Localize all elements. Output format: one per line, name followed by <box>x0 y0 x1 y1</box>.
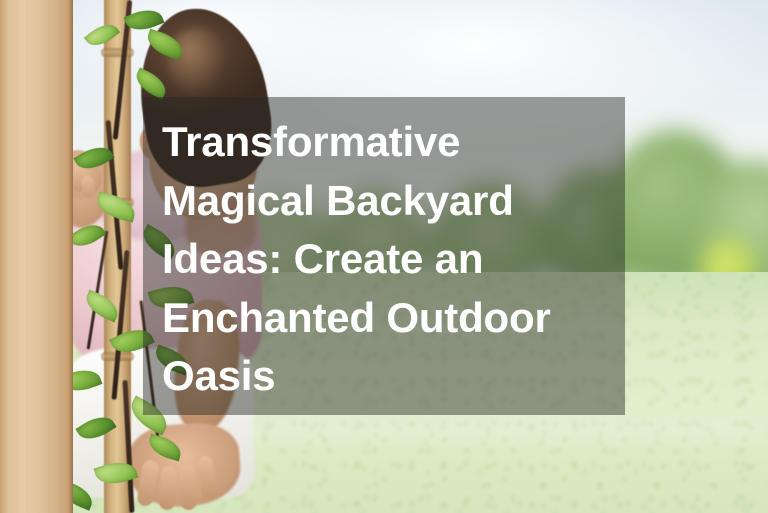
girl-finger <box>179 464 197 511</box>
wooden-post <box>0 0 73 513</box>
wood-post-edge <box>68 0 73 513</box>
title-overlay: Transformative Magical Backyard Ideas: C… <box>143 97 625 415</box>
wood-grain-texture <box>0 0 73 513</box>
girl-finger <box>158 465 177 510</box>
girl-finger <box>81 175 95 198</box>
hero-image-screenshot: Transformative Magical Backyard Ideas: C… <box>0 0 768 513</box>
page-title: Transformative Magical Backyard Ideas: C… <box>162 113 607 406</box>
bamboo-node <box>101 48 134 57</box>
